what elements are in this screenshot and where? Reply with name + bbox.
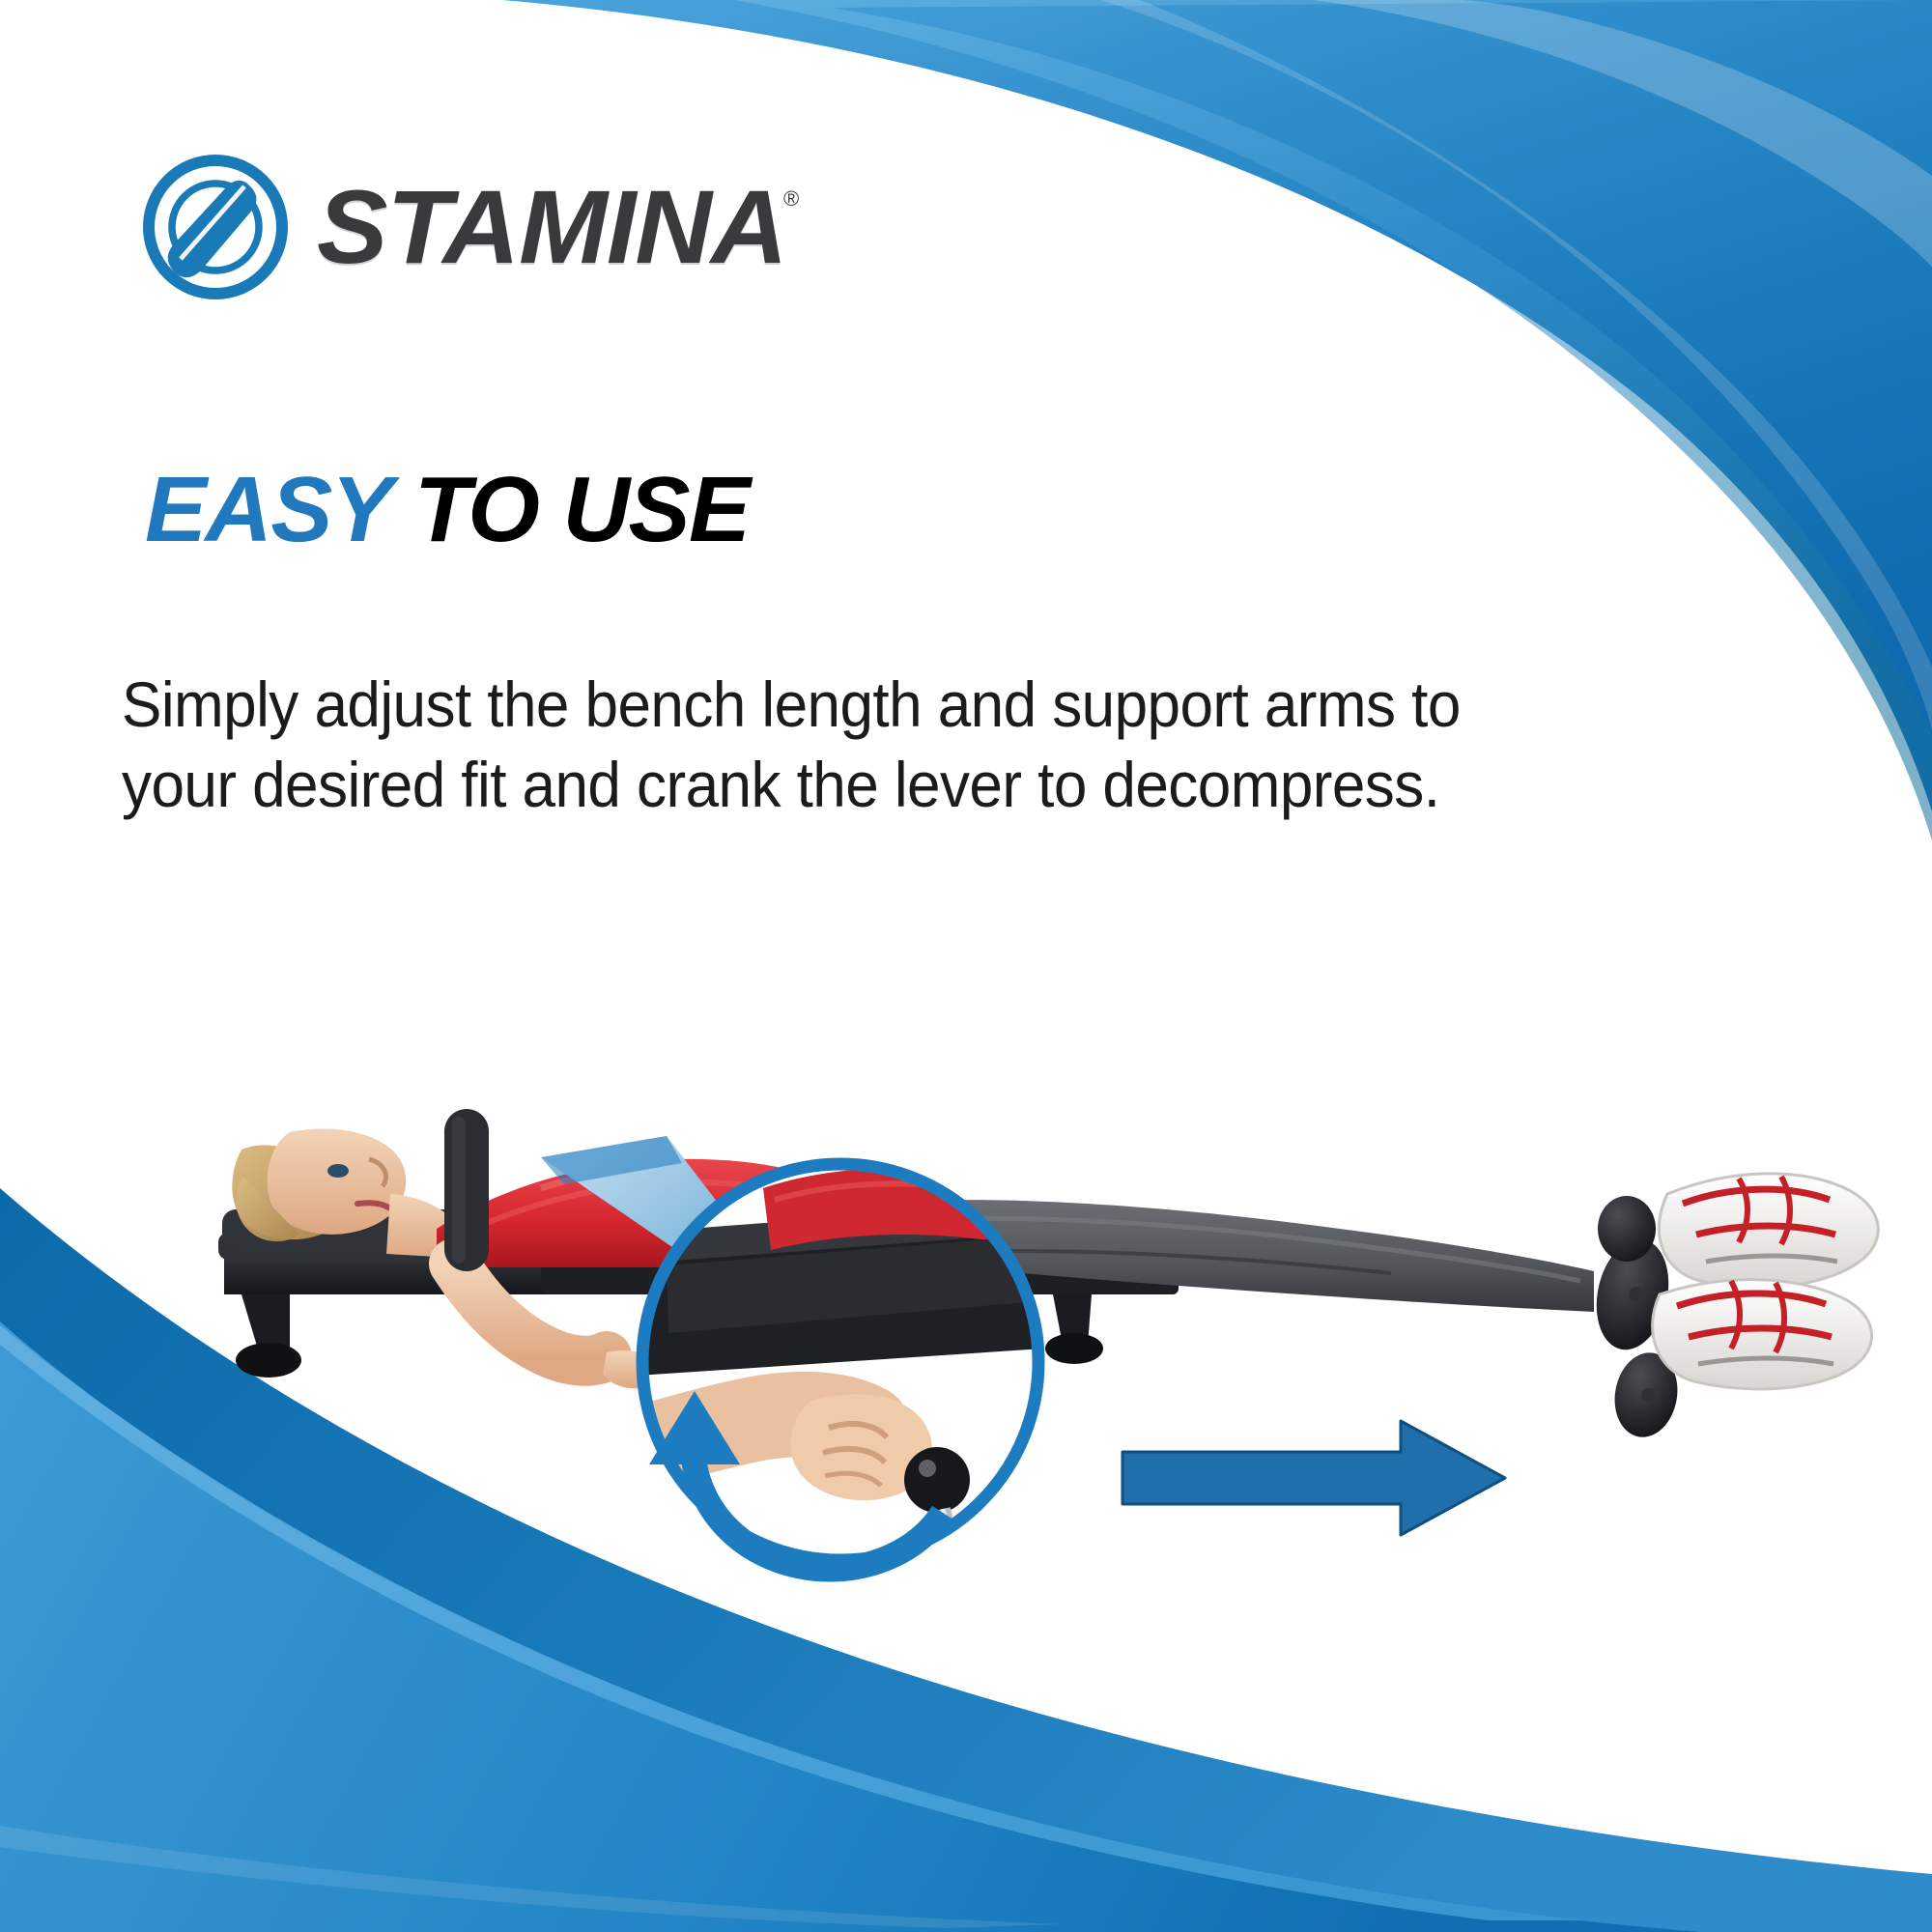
headline-accent-word: EASY bbox=[145, 458, 390, 561]
brand-logo-row: STAMINA ® bbox=[143, 155, 799, 299]
description-line-2: your desired fit and crank the lever to … bbox=[122, 745, 1702, 825]
figure-shoes bbox=[1653, 1174, 1879, 1389]
swoosh-top-curl bbox=[1314, 0, 1932, 267]
brand-wordmark: STAMINA bbox=[317, 175, 786, 279]
page-title: EASY TO USE bbox=[145, 462, 750, 558]
crank-detail-callout bbox=[522, 1043, 1063, 1584]
marketing-card: STAMINA ® EASY TO USE Simply adjust the … bbox=[0, 0, 1932, 1932]
figure-eye bbox=[327, 1164, 349, 1178]
headline-main-words: TO USE bbox=[414, 458, 750, 561]
description-paragraph: Simply adjust the bench length and suppo… bbox=[122, 665, 1803, 825]
bench-neck-roller bbox=[444, 1109, 489, 1271]
direction-arrow-icon bbox=[1111, 1406, 1517, 1550]
stamina-circle-slash-logo-icon bbox=[143, 155, 288, 299]
description-line-1: Simply adjust the bench length and suppo… bbox=[122, 665, 1702, 745]
